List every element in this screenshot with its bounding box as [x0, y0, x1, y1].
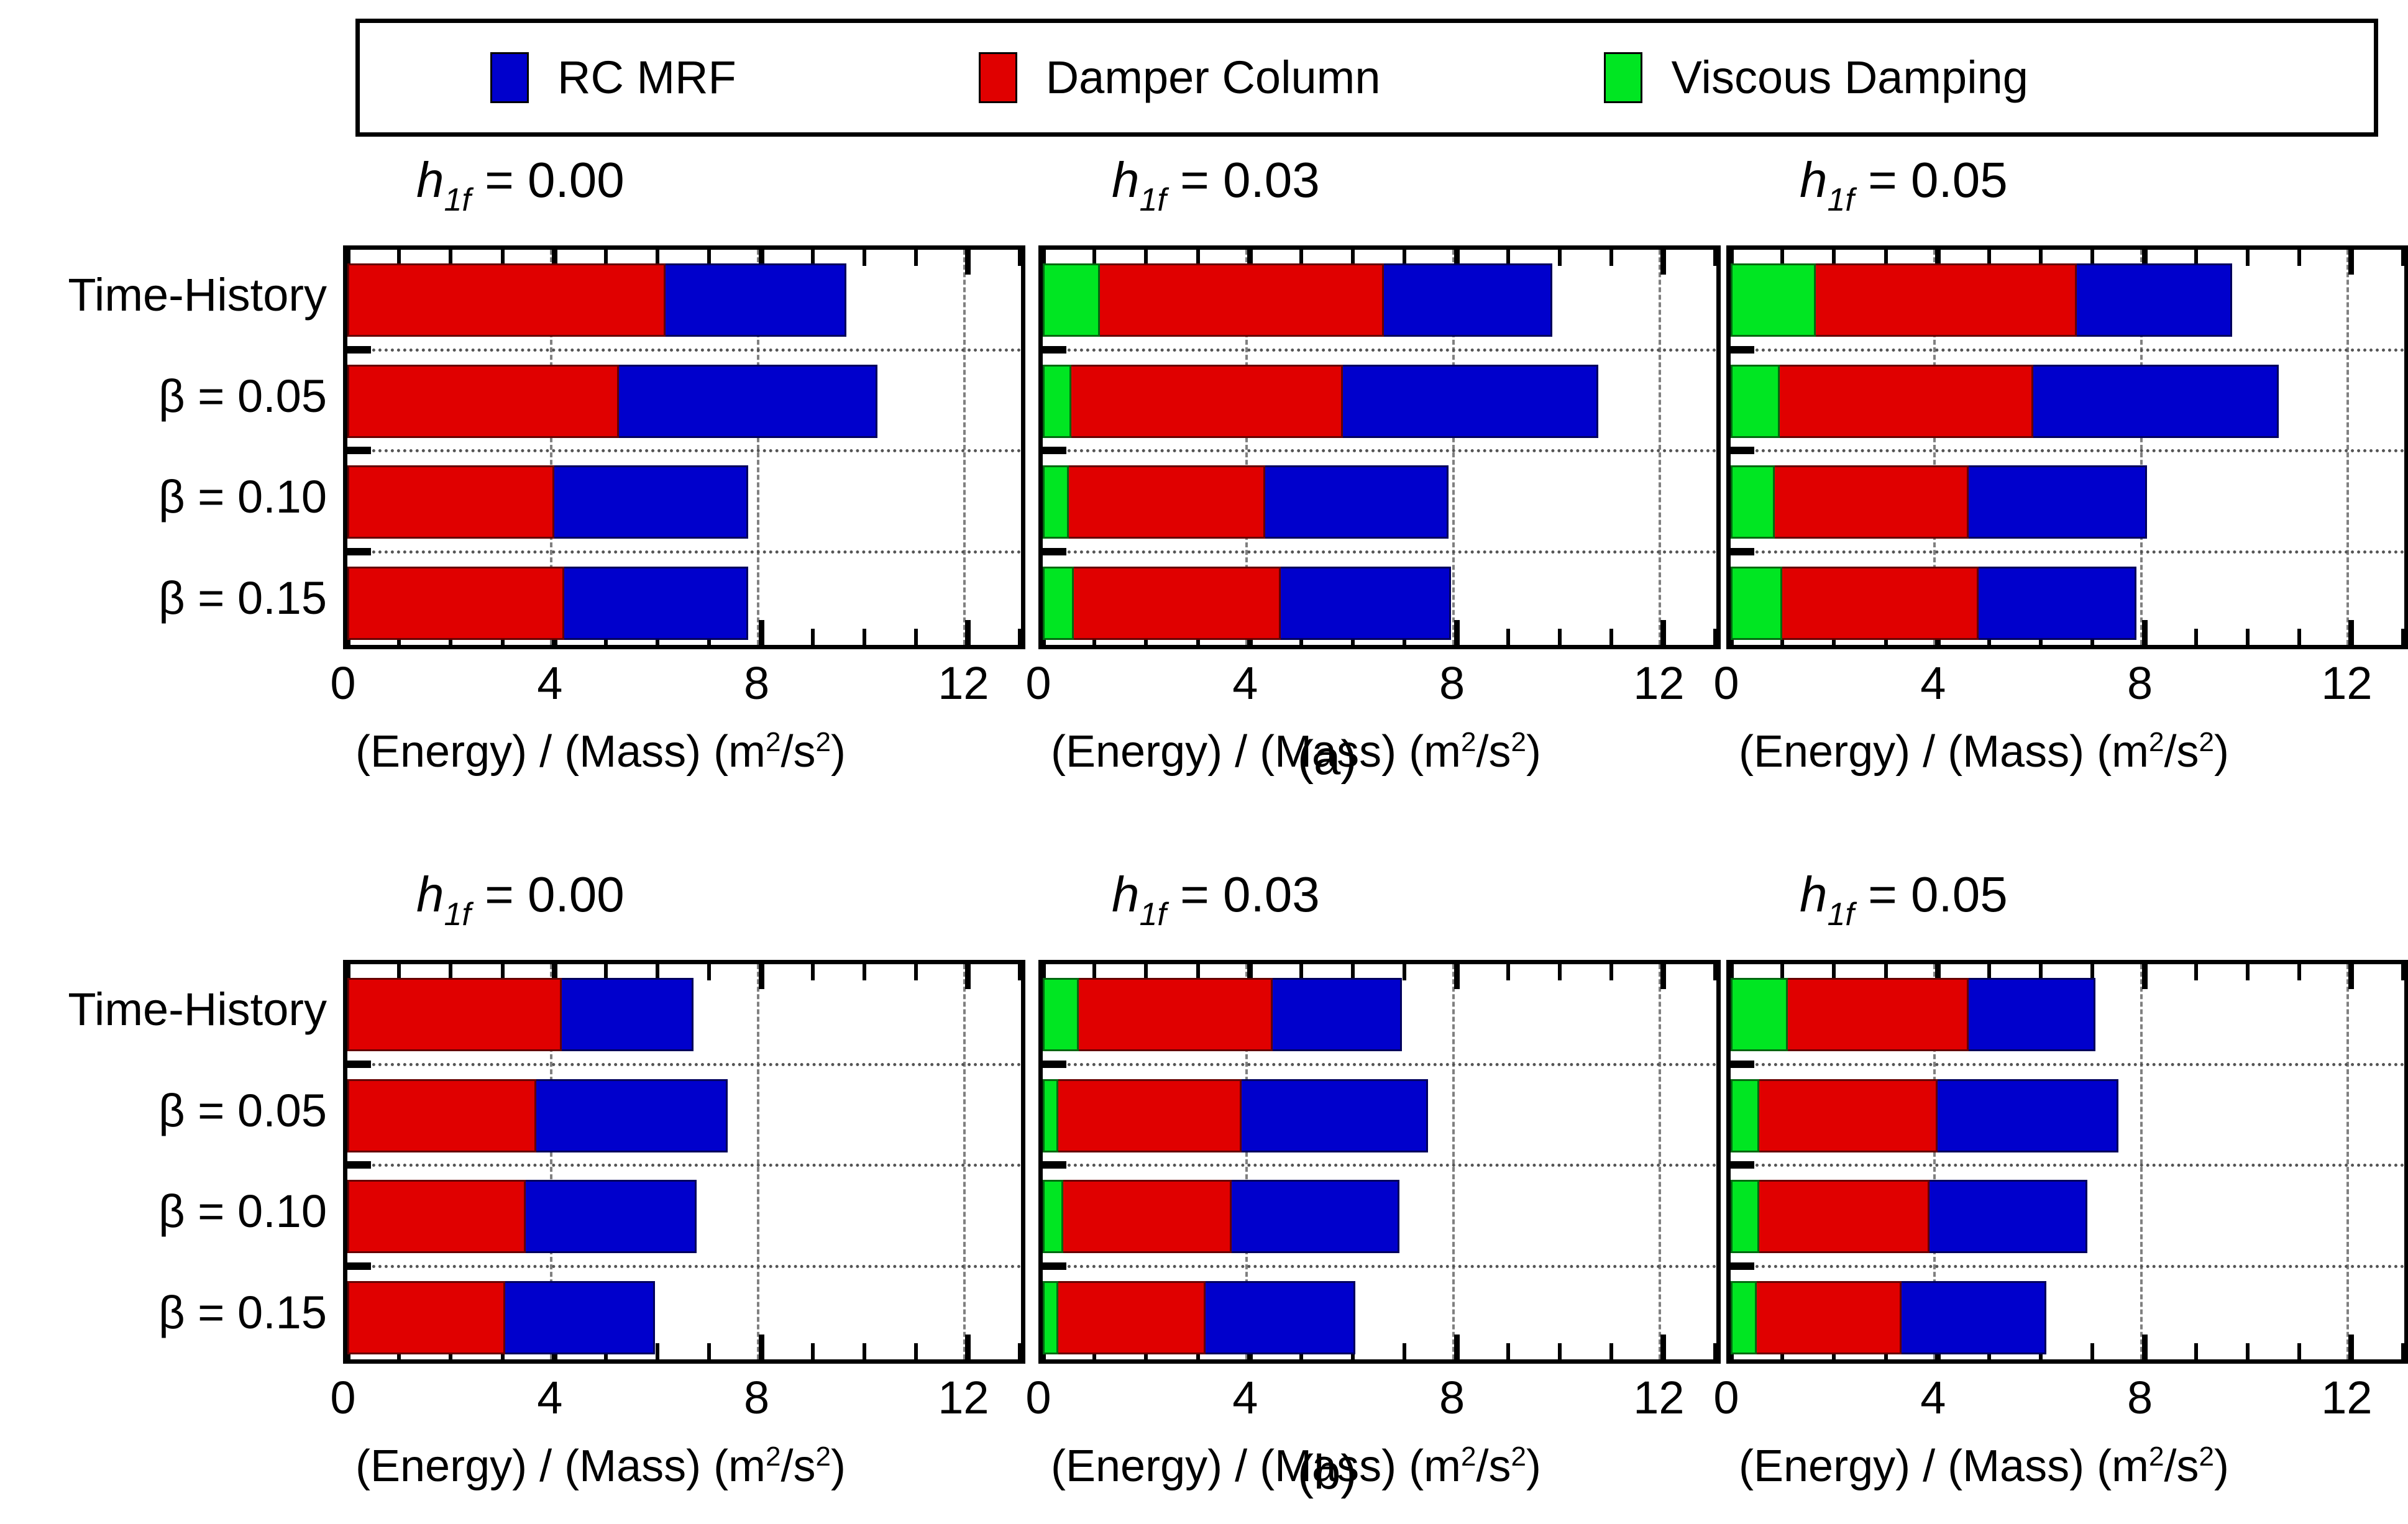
- axis-tick-tick-bot-10: [863, 629, 866, 645]
- axis-tick-tick-bot-13: [1018, 629, 1022, 645]
- axis-tick-tick-top-13: [2401, 964, 2405, 980]
- x-tick-label-8: 8: [744, 660, 769, 706]
- axis-tick-left-2: [347, 1161, 371, 1169]
- table-row: [1043, 567, 1451, 640]
- gridline-y-1: [347, 1063, 1021, 1066]
- axis-tick-tick-bot-11: [2297, 629, 2301, 645]
- axis-tick-tick-top-12: [1660, 964, 1666, 989]
- panel-title-subscript: 1f: [1140, 897, 1166, 933]
- axis-tick-left-2: [1043, 447, 1066, 454]
- panel-title-symbol: h: [416, 867, 444, 922]
- legend-item-rc-mrf: RC MRF: [490, 52, 736, 103]
- bar-segment-rc-mrf: [1265, 465, 1449, 539]
- axis-tick-left-3: [1043, 548, 1066, 555]
- x-axis-title-main: (Energy) / (Mass): [355, 727, 713, 777]
- panel-title-1: h1f = 0.03: [1112, 155, 1320, 216]
- x-axis-units-sup-1: 2: [766, 1441, 781, 1472]
- x-axis-title-main: (Energy) / (Mass): [1739, 1441, 2097, 1491]
- axis-tick-tick-top-10: [863, 250, 866, 266]
- bar-segment-damper-column: [1069, 465, 1265, 539]
- x-axis-units-sup-2: 2: [816, 727, 831, 757]
- bar-segment-rc-mrf: [526, 1180, 697, 1253]
- axis-tick-tick-top-8: [759, 964, 764, 989]
- x-axis-units-mid: /s: [781, 1441, 816, 1491]
- gridline-y-1: [347, 349, 1021, 352]
- axis-tick-tick-bot-9: [2194, 1343, 2198, 1359]
- legend-item-damper-column: Damper Column: [979, 52, 1381, 103]
- x-axis-units-sup-2: 2: [1511, 727, 1526, 757]
- x-tick-label-12: 12: [1633, 660, 1684, 706]
- x-tick-label-8: 8: [744, 1375, 769, 1421]
- axis-tick-tick-top-9: [811, 964, 815, 980]
- axis-tick-tick-bot-12: [2348, 620, 2354, 645]
- axis-tick-tick-top-12: [2348, 250, 2354, 275]
- axis-tick-tick-top-13: [1713, 964, 1717, 980]
- axis-tick-tick-bot-11: [1609, 1343, 1613, 1359]
- x-tick-label-12: 12: [1633, 1375, 1684, 1421]
- plot-area-1: [1038, 245, 1721, 649]
- gridline-y-2: [347, 1164, 1021, 1167]
- caption-b: (b): [1298, 1448, 1357, 1496]
- legend: RC MRF Damper Column Viscous Damping: [355, 19, 2378, 137]
- x-axis-units-mid: /s: [2164, 1441, 2199, 1491]
- bar-segment-damper-column: [1079, 978, 1273, 1051]
- gridline-x-12: [1659, 964, 1661, 1359]
- axis-tick-tick-top-12: [965, 250, 971, 275]
- x-axis-title-1: (Energy) / (Mass) (m2/s2): [1051, 1443, 1541, 1489]
- panel-title-value: = 0.05: [1854, 152, 2008, 208]
- axis-tick-tick-bot-13: [1713, 629, 1717, 645]
- gridline-x-12: [2346, 964, 2349, 1359]
- x-tick-label-0: 0: [1025, 660, 1051, 706]
- table-row: [1731, 567, 2136, 640]
- panel-title-symbol: h: [416, 152, 444, 208]
- bar-segment-viscous-damping: [1731, 465, 1775, 539]
- axis-tick-tick-top-11: [2297, 250, 2301, 266]
- axis-tick-tick-top-11: [1609, 250, 1613, 266]
- plot-area-2: [1726, 245, 2408, 649]
- x-axis-units-open: (m: [713, 727, 766, 777]
- x-axis-units-open: (m: [713, 1441, 766, 1491]
- gridline-y-3: [347, 1265, 1021, 1268]
- table-row: [1731, 263, 2232, 337]
- table-row: [1043, 465, 1449, 539]
- panel-title-symbol: h: [1800, 152, 1828, 208]
- axis-tick-tick-top-11: [914, 250, 918, 266]
- x-tick-label-0: 0: [330, 1375, 355, 1421]
- axis-tick-tick-bot-12: [965, 620, 971, 645]
- axis-tick-tick-top-10: [2246, 964, 2250, 980]
- bar-segment-viscous-damping: [1731, 978, 1788, 1051]
- gridline-y-3: [347, 550, 1021, 554]
- axis-tick-tick-top-12: [965, 964, 971, 989]
- bar-segment-damper-column: [347, 465, 554, 539]
- bar-segment-viscous-damping: [1043, 365, 1071, 438]
- axis-tick-tick-bot-10: [2246, 629, 2250, 645]
- bar-segment-viscous-damping: [1043, 263, 1100, 337]
- axis-tick-tick-bot-12: [1660, 1335, 1666, 1359]
- axis-tick-tick-bot-6: [656, 1343, 659, 1359]
- x-axis-units-close: ): [1526, 1441, 1541, 1491]
- row-label-3: β = 0.15: [158, 575, 327, 621]
- x-tick-label-4: 4: [1232, 660, 1258, 706]
- bar-segment-rc-mrf: [1930, 1180, 2087, 1253]
- x-axis-title-0: (Energy) / (Mass) (m2/s2): [355, 729, 846, 774]
- bar-segment-rc-mrf: [1384, 263, 1552, 337]
- axis-tick-left-3: [347, 548, 371, 555]
- row-label-1: β = 0.05: [158, 1088, 327, 1134]
- table-row: [1731, 1079, 2118, 1152]
- x-axis-units-close: ): [831, 727, 846, 777]
- x-axis-units-sup-1: 2: [1461, 727, 1476, 757]
- axis-tick-tick-bot-7: [1403, 1343, 1406, 1359]
- bar-segment-rc-mrf: [1232, 1180, 1399, 1253]
- table-row: [347, 1079, 728, 1152]
- axis-tick-tick-bot-11: [914, 1343, 918, 1359]
- table-row: [347, 465, 748, 539]
- bar-segment-damper-column: [347, 365, 619, 438]
- x-axis-units-sup-2: 2: [2199, 1441, 2214, 1472]
- gridline-y-2: [347, 449, 1021, 452]
- panel-title-1: h1f = 0.03: [1112, 870, 1320, 931]
- axis-tick-tick-bot-8: [2142, 1335, 2148, 1359]
- bar-segment-rc-mrf: [1242, 1079, 1428, 1152]
- bar-segment-damper-column: [1816, 263, 2077, 337]
- plot-area-1: [1038, 960, 1721, 1364]
- bar-segment-damper-column: [1782, 567, 1979, 640]
- bar-segment-damper-column: [347, 1079, 536, 1152]
- table-row: [1043, 263, 1552, 337]
- plot-area-2: [1726, 960, 2408, 1364]
- bar-segment-rc-mrf: [564, 567, 748, 640]
- table-row: [347, 1281, 655, 1354]
- table-row: [347, 365, 877, 438]
- plot-inner: [347, 250, 1021, 645]
- x-tick-label-8: 8: [1439, 660, 1465, 706]
- axis-tick-left-2: [1731, 1161, 1754, 1169]
- x-axis-units-close: ): [2214, 727, 2229, 777]
- bar-segment-damper-column: [1780, 365, 2033, 438]
- x-tick-label-8: 8: [2127, 660, 2153, 706]
- axis-tick-tick-bot-11: [1609, 629, 1613, 645]
- table-row: [347, 978, 694, 1051]
- x-axis-title-main: (Energy) / (Mass): [355, 1441, 713, 1491]
- x-tick-label-12: 12: [938, 660, 989, 706]
- x-tick-label-0: 0: [330, 660, 355, 706]
- x-axis-title-2: (Energy) / (Mass) (m2/s2): [1739, 1443, 2229, 1489]
- gridline-y-1: [1731, 1063, 2404, 1066]
- axis-tick-tick-top-10: [2246, 250, 2250, 266]
- legend-item-viscous-damping: Viscous Damping: [1604, 52, 2028, 103]
- axis-tick-tick-bot-13: [1713, 1343, 1717, 1359]
- gridline-x-8: [757, 964, 759, 1359]
- panel-title-subscript: 1f: [444, 897, 471, 933]
- x-axis-units-sup-1: 2: [2149, 1441, 2164, 1472]
- plot-area-0: [343, 245, 1025, 649]
- gridline-x-8: [2140, 964, 2143, 1359]
- axis-tick-tick-bot-8: [1454, 620, 1460, 645]
- gridline-x-12: [2346, 250, 2349, 645]
- x-axis-units-mid: /s: [1476, 1441, 1511, 1491]
- legend-swatch-damper-column: [979, 52, 1017, 103]
- axis-tick-tick-top-9: [1506, 964, 1510, 980]
- bar-segment-viscous-damping: [1731, 365, 1780, 438]
- bar-segment-rc-mrf: [1273, 978, 1402, 1051]
- plot-area-0: [343, 960, 1025, 1364]
- legend-label-rc-mrf: RC MRF: [557, 55, 736, 101]
- axis-tick-tick-bot-8: [759, 1335, 764, 1359]
- axis-tick-left-1: [347, 1061, 371, 1068]
- bar-segment-damper-column: [1100, 263, 1385, 337]
- gridline-y-3: [1043, 550, 1716, 554]
- bar-segment-damper-column: [347, 567, 564, 640]
- axis-tick-tick-bot-12: [965, 1335, 971, 1359]
- gridline-x-12: [1659, 250, 1661, 645]
- bar-segment-damper-column: [1757, 1281, 1902, 1354]
- axis-tick-tick-top-10: [1558, 964, 1562, 980]
- bar-segment-damper-column: [347, 1281, 505, 1354]
- axis-tick-tick-bot-10: [1558, 629, 1562, 645]
- axis-tick-tick-bot-8: [1454, 1335, 1460, 1359]
- axis-tick-tick-bot-10: [863, 1343, 866, 1359]
- x-axis-title-main: (Energy) / (Mass): [1739, 727, 2097, 777]
- axis-tick-tick-top-7: [1403, 964, 1406, 980]
- bar-segment-viscous-damping: [1043, 567, 1074, 640]
- x-axis-units-open: (m: [1409, 727, 1461, 777]
- figure-root: RC MRF Damper Column Viscous Damping Tim…: [0, 0, 2408, 1524]
- axis-tick-tick-bot-10: [2246, 1343, 2250, 1359]
- axis-tick-left-1: [1731, 1061, 1754, 1068]
- axis-tick-left-1: [1043, 1061, 1066, 1068]
- x-axis-title-1: (Energy) / (Mass) (m2/s2): [1051, 729, 1541, 774]
- x-axis-units-sup-2: 2: [2199, 727, 2214, 757]
- panel-title-value: = 0.03: [1166, 867, 1320, 922]
- bar-segment-rc-mrf: [1902, 1281, 2046, 1354]
- table-row: [347, 263, 846, 337]
- bar-segment-viscous-damping: [1731, 1281, 1757, 1354]
- x-tick-label-4: 4: [537, 1375, 562, 1421]
- row-label-0: Time-History: [68, 272, 327, 318]
- axis-tick-left-3: [1731, 1262, 1754, 1270]
- x-axis-units-close: ): [831, 1441, 846, 1491]
- panel-title-value: = 0.03: [1166, 152, 1320, 208]
- bar-segment-damper-column: [1071, 365, 1343, 438]
- bar-segment-viscous-damping: [1731, 1180, 1759, 1253]
- legend-label-viscous-damping: Viscous Damping: [1671, 55, 2028, 101]
- axis-tick-tick-top-7: [707, 964, 711, 980]
- axis-tick-tick-top-10: [1558, 250, 1562, 266]
- axis-tick-tick-bot-7: [707, 1343, 711, 1359]
- bar-segment-damper-column: [347, 1180, 526, 1253]
- bar-segment-rc-mrf: [1206, 1281, 1355, 1354]
- axis-tick-tick-bot-8: [2142, 620, 2148, 645]
- x-tick-label-4: 4: [537, 660, 562, 706]
- plot-inner: [1731, 964, 2404, 1359]
- caption-a: (a): [1298, 733, 1357, 782]
- gridline-y-1: [1043, 349, 1716, 352]
- x-axis-units-close: ): [1526, 727, 1541, 777]
- x-tick-label-0: 0: [1025, 1375, 1051, 1421]
- bar-segment-viscous-damping: [1043, 978, 1079, 1051]
- row-label-1: β = 0.05: [158, 373, 327, 419]
- x-axis-units-mid: /s: [1476, 727, 1511, 777]
- axis-tick-left-2: [1043, 1161, 1066, 1169]
- axis-tick-tick-bot-8: [759, 620, 764, 645]
- x-axis-units-open: (m: [2097, 727, 2149, 777]
- axis-tick-left-3: [1731, 548, 1754, 555]
- gridline-y-2: [1731, 1164, 2404, 1167]
- axis-tick-tick-bot-13: [2401, 629, 2405, 645]
- plot-inner: [1731, 250, 2404, 645]
- legend-swatch-rc-mrf: [490, 52, 529, 103]
- axis-tick-tick-top-13: [1018, 250, 1022, 266]
- axis-tick-tick-top-9: [2194, 964, 2198, 980]
- panel-title-symbol: h: [1112, 867, 1140, 922]
- x-axis-units-mid: /s: [781, 727, 816, 777]
- x-tick-label-12: 12: [2321, 660, 2372, 706]
- axis-tick-tick-bot-9: [811, 629, 815, 645]
- panel-title-symbol: h: [1112, 152, 1140, 208]
- bar-segment-damper-column: [1759, 1079, 1938, 1152]
- bar-segment-viscous-damping: [1043, 1281, 1058, 1354]
- table-row: [1043, 1079, 1428, 1152]
- bar-segment-damper-column: [1788, 978, 1969, 1051]
- x-axis-units-sup-1: 2: [766, 727, 781, 757]
- x-axis-units-sup-1: 2: [1461, 1441, 1476, 1472]
- plot-inner: [347, 964, 1021, 1359]
- axis-tick-tick-bot-7: [2090, 1343, 2094, 1359]
- bar-segment-rc-mrf: [1281, 567, 1452, 640]
- gridline-y-2: [1043, 1164, 1716, 1167]
- axis-tick-tick-bot-12: [1660, 620, 1666, 645]
- bar-segment-rc-mrf: [1969, 465, 2147, 539]
- gridline-y-2: [1043, 449, 1716, 452]
- x-axis-title-2: (Energy) / (Mass) (m2/s2): [1739, 729, 2229, 774]
- bar-segment-viscous-damping: [1731, 1079, 1759, 1152]
- axis-tick-tick-bot-9: [1506, 1343, 1510, 1359]
- panel-title-value: = 0.00: [471, 152, 625, 208]
- axis-tick-tick-bot-13: [1018, 1343, 1022, 1359]
- bar-segment-damper-column: [1058, 1281, 1206, 1354]
- figure-panel-group-a: Time-Historyβ = 0.05β = 0.10β = 0.15 h1f…: [0, 155, 2408, 833]
- panel-title-value: = 0.00: [471, 867, 625, 922]
- bar-segment-viscous-damping: [1731, 263, 1816, 337]
- panel-title-subscript: 1f: [1828, 897, 1854, 933]
- axis-tick-tick-top-13: [1713, 250, 1717, 266]
- row-label-2: β = 0.10: [158, 474, 327, 520]
- x-tick-label-12: 12: [938, 1375, 989, 1421]
- axis-tick-tick-bot-11: [2297, 1343, 2301, 1359]
- bar-segment-rc-mrf: [1938, 1079, 2118, 1152]
- gridline-y-1: [1043, 1063, 1716, 1066]
- panel-title-subscript: 1f: [1828, 182, 1854, 218]
- bar-segment-damper-column: [347, 978, 562, 1051]
- plot-inner: [1043, 250, 1716, 645]
- axis-tick-tick-bot-9: [2194, 629, 2198, 645]
- table-row: [1731, 1180, 2087, 1253]
- gridline-x-8: [1452, 964, 1455, 1359]
- axis-tick-tick-top-11: [1609, 964, 1613, 980]
- gridline-y-3: [1731, 1265, 2404, 1268]
- bar-segment-rc-mrf: [619, 365, 877, 438]
- table-row: [1043, 1180, 1399, 1253]
- panel-title-2: h1f = 0.05: [1800, 870, 2008, 931]
- table-row: [1731, 365, 2279, 438]
- axis-tick-left-2: [347, 447, 371, 454]
- axis-tick-left-1: [347, 346, 371, 354]
- x-tick-label-0: 0: [1713, 1375, 1739, 1421]
- bar-segment-damper-column: [1074, 567, 1281, 640]
- figure-panel-group-b: Time-Historyβ = 0.05β = 0.10β = 0.15 h1f…: [0, 870, 2408, 1524]
- panel-title-subscript: 1f: [1140, 182, 1166, 218]
- bar-segment-rc-mrf: [536, 1079, 728, 1152]
- axis-tick-tick-bot-13: [2401, 1343, 2405, 1359]
- axis-tick-left-1: [1043, 346, 1066, 354]
- bar-segment-rc-mrf: [505, 1281, 655, 1354]
- panel-title-subscript: 1f: [444, 182, 471, 218]
- x-tick-label-8: 8: [2127, 1375, 2153, 1421]
- axis-tick-tick-bot-12: [2348, 1335, 2354, 1359]
- x-axis-units-sup-2: 2: [816, 1441, 831, 1472]
- bar-segment-viscous-damping: [1043, 1180, 1063, 1253]
- legend-swatch-viscous-damping: [1604, 52, 1642, 103]
- axis-tick-tick-top-11: [2297, 964, 2301, 980]
- gridline-x-12: [963, 250, 966, 645]
- bar-segment-rc-mrf: [1979, 567, 2136, 640]
- bar-segment-rc-mrf: [1343, 365, 1599, 438]
- bar-segment-rc-mrf: [562, 978, 694, 1051]
- gridline-y-3: [1043, 1265, 1716, 1268]
- bar-segment-viscous-damping: [1043, 1079, 1058, 1152]
- x-axis-units-close: ): [2214, 1441, 2229, 1491]
- plot-inner: [1043, 964, 1716, 1359]
- table-row: [1043, 978, 1402, 1051]
- axis-tick-tick-bot-9: [1506, 629, 1510, 645]
- x-axis-units-sup-1: 2: [2149, 727, 2164, 757]
- table-row: [1043, 1281, 1355, 1354]
- x-tick-label-4: 4: [1920, 660, 1946, 706]
- axis-tick-tick-top-13: [2401, 250, 2405, 266]
- axis-tick-tick-top-10: [863, 964, 866, 980]
- bar-segment-damper-column: [1759, 1180, 1930, 1253]
- bar-segment-rc-mrf: [2033, 365, 2279, 438]
- axis-tick-left-2: [1731, 447, 1754, 454]
- table-row: [1731, 465, 2147, 539]
- x-axis-units-sup-2: 2: [1511, 1441, 1526, 1472]
- x-tick-label-0: 0: [1713, 660, 1739, 706]
- panel-title-value: = 0.05: [1854, 867, 2008, 922]
- axis-tick-left-1: [1731, 346, 1754, 354]
- row-label-0: Time-History: [68, 987, 327, 1033]
- x-tick-label-8: 8: [1439, 1375, 1465, 1421]
- table-row: [347, 567, 748, 640]
- x-tick-label-12: 12: [2321, 1375, 2372, 1421]
- axis-tick-tick-top-12: [1660, 250, 1666, 275]
- gridline-y-3: [1731, 550, 2404, 554]
- bar-segment-damper-column: [1063, 1180, 1231, 1253]
- bar-segment-viscous-damping: [1043, 465, 1069, 539]
- bar-segment-rc-mrf: [554, 465, 748, 539]
- table-row: [1043, 365, 1598, 438]
- table-row: [1731, 1281, 2046, 1354]
- gridline-x-12: [963, 964, 966, 1359]
- gridline-y-1: [1731, 349, 2404, 352]
- x-tick-label-4: 4: [1920, 1375, 1946, 1421]
- bar-segment-damper-column: [347, 263, 666, 337]
- axis-tick-tick-bot-9: [811, 1343, 815, 1359]
- x-axis-units-open: (m: [1409, 1441, 1461, 1491]
- legend-label-damper-column: Damper Column: [1046, 55, 1381, 101]
